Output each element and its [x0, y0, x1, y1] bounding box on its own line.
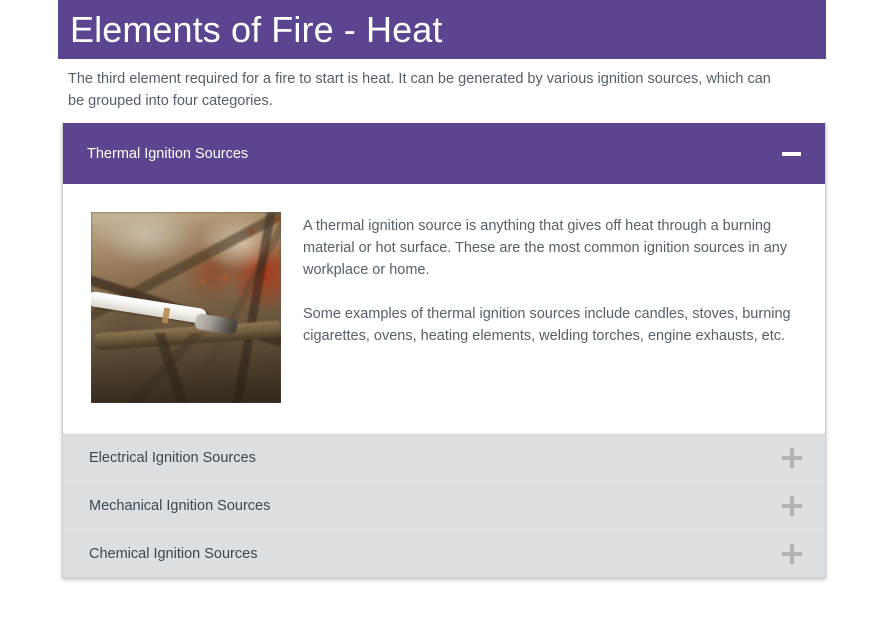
accordion-header-chemical[interactable]: Chemical Ignition Sources: [63, 529, 825, 577]
accordion-header-chemical-label: Chemical Ignition Sources: [89, 546, 782, 562]
thermal-ignition-text: A thermal ignition source is anything th…: [303, 212, 797, 403]
plus-icon[interactable]: [782, 496, 802, 516]
intro-paragraph: The third element required for a fire to…: [68, 68, 778, 112]
accordion-header-electrical-label: Electrical Ignition Sources: [89, 450, 782, 466]
plus-icon[interactable]: [782, 448, 802, 468]
page-title: Elements of Fire - Heat: [70, 12, 442, 48]
accordion-header-thermal[interactable]: Thermal Ignition Sources: [63, 123, 825, 184]
photo-foreground-debris: [91, 333, 281, 403]
accordion-header-thermal-label: Thermal Ignition Sources: [87, 146, 782, 162]
accordion-header-mechanical[interactable]: Mechanical Ignition Sources: [63, 481, 825, 529]
thermal-paragraph-2: Some examples of thermal ignition source…: [303, 303, 797, 347]
thermal-paragraph-1: A thermal ignition source is anything th…: [303, 215, 797, 281]
accordion-panel-thermal: A thermal ignition source is anything th…: [63, 184, 825, 433]
page-root: Elements of Fire - Heat The third elemen…: [0, 0, 884, 644]
page-title-banner: Elements of Fire - Heat: [58, 0, 826, 59]
accordion-header-electrical[interactable]: Electrical Ignition Sources: [63, 433, 825, 481]
thermal-ignition-photo: [91, 212, 281, 403]
accordion-header-mechanical-label: Mechanical Ignition Sources: [89, 498, 782, 514]
minus-icon[interactable]: [782, 144, 801, 163]
plus-icon[interactable]: [782, 544, 802, 564]
accordion: Thermal Ignition Sources A thermal ignit…: [62, 123, 826, 578]
